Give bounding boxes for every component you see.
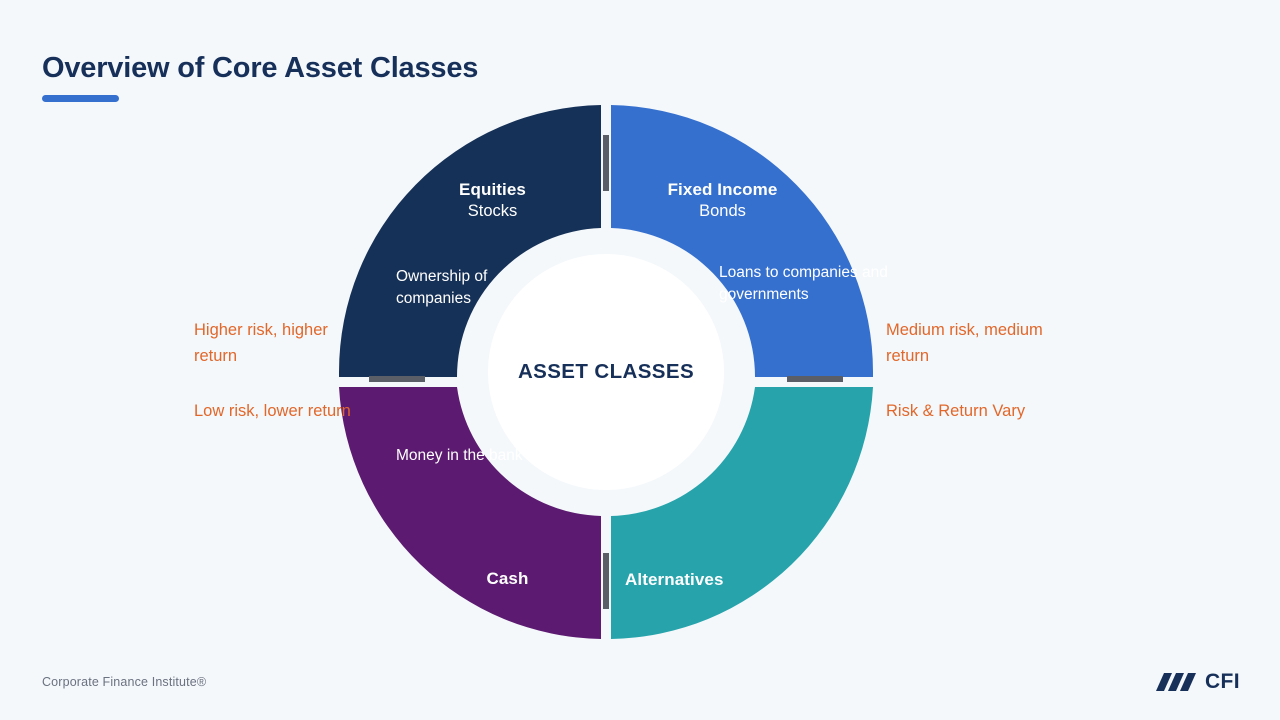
annotation-alternatives-risk: Risk & Return Vary (886, 399, 1086, 425)
segment-description-equities: Ownership of companies (396, 266, 566, 311)
segment-label-equities: Equities Stocks (395, 179, 590, 222)
slide-canvas: { "title": "Overview of Core Asset Class… (0, 0, 1280, 720)
segment-title-alternatives: Alternatives (625, 569, 825, 591)
segment-description-cash: Money in the bank (396, 445, 566, 467)
divider-tick-top (603, 135, 609, 191)
segment-subtitle-equities: Stocks (395, 201, 590, 222)
title-block: Overview of Core Asset Classes (42, 52, 478, 102)
divider-tick-left (369, 376, 425, 382)
segment-label-alternatives: Alternatives (625, 569, 825, 591)
segment-title-equities: Equities (395, 179, 590, 201)
segment-title-cash: Cash (410, 568, 605, 590)
segment-label-cash: Cash (410, 568, 605, 590)
segment-label-fixed-income: Fixed Income Bonds (625, 179, 820, 222)
annotation-fixed-income-risk: Medium risk, medium return (886, 318, 1086, 369)
annotation-cash-risk: Low risk, lower return (194, 399, 364, 425)
cfi-bars-icon (1156, 671, 1198, 693)
divider-tick-right (787, 376, 843, 382)
segment-description-fixed-income: Loans to companies and governments (719, 262, 899, 307)
brand-wordmark: CFI (1205, 670, 1240, 694)
brand-logo: CFI (1156, 670, 1240, 694)
annotation-equities-risk: Higher risk, higher return (194, 318, 364, 369)
footer-attribution: Corporate Finance Institute® (42, 675, 206, 689)
title-accent-rule (42, 95, 119, 102)
segment-title-fixed-income: Fixed Income (625, 179, 820, 201)
page-title: Overview of Core Asset Classes (42, 52, 478, 85)
segment-subtitle-fixed-income: Bonds (625, 201, 820, 222)
